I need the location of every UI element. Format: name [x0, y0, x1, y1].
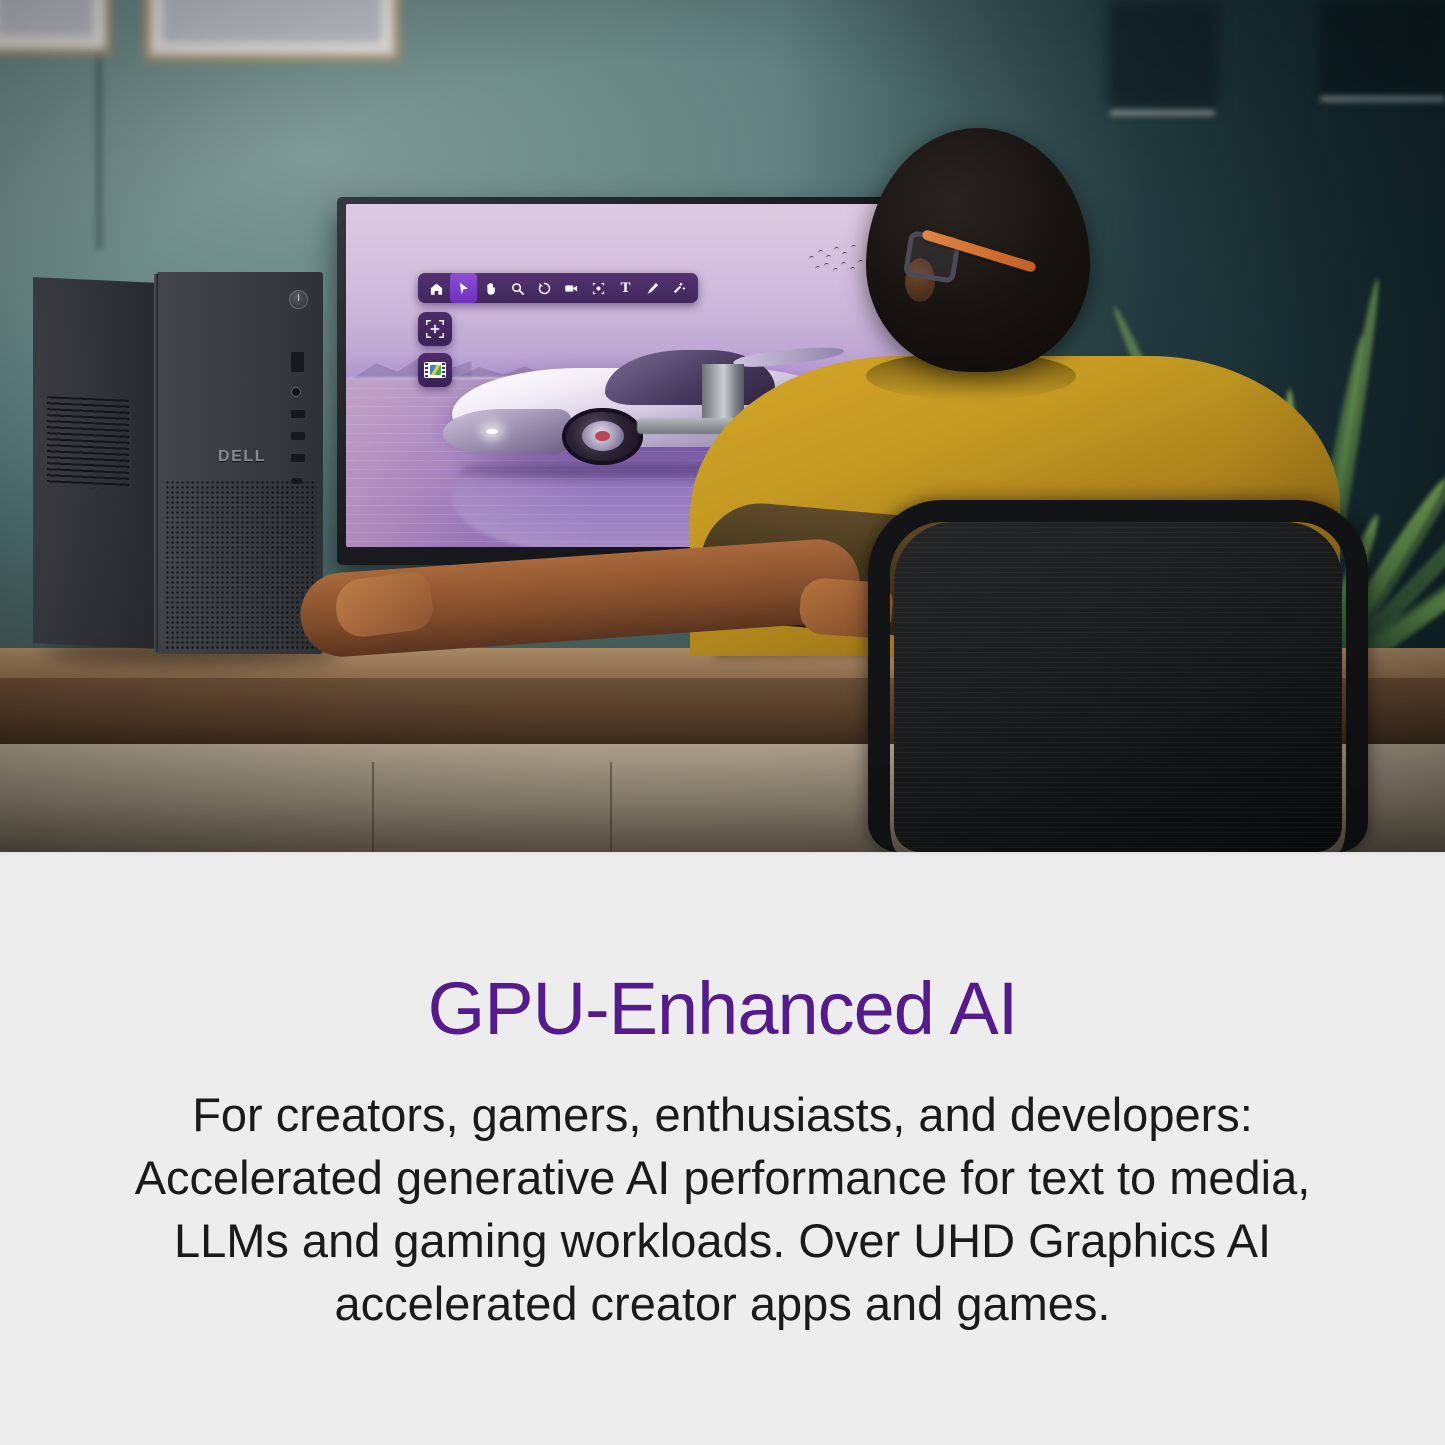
- chair-frame: [868, 500, 1368, 852]
- hero-photo: T: [0, 0, 1445, 856]
- caption-body-text: For creators, gamers, enthusiasts, and d…: [88, 1084, 1358, 1336]
- product-feature-page: T: [0, 0, 1445, 1445]
- caption-section: GPU-Enhanced AI For creators, gamers, en…: [0, 856, 1445, 1445]
- office-chair: [868, 500, 1368, 856]
- page-title: GPU-Enhanced AI: [0, 966, 1445, 1051]
